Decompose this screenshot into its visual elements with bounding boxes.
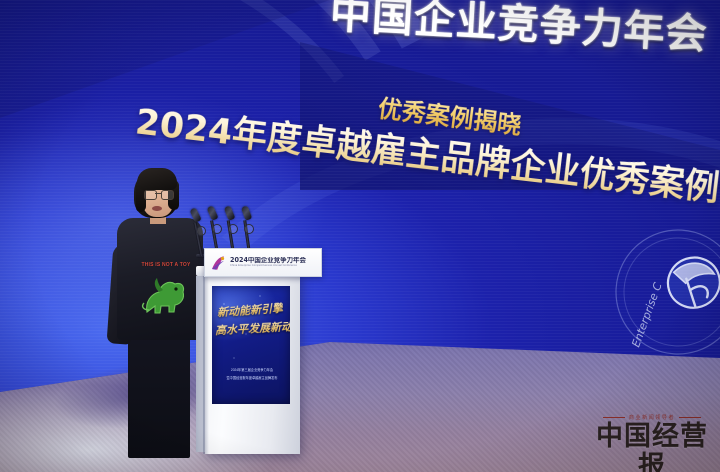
speaker-mouth (152, 206, 162, 211)
podium-sign-subtitle: China Enterprise Competitiveness Annual … (230, 265, 312, 268)
microphone-clip (212, 224, 222, 234)
microphone-clip (244, 224, 254, 234)
watermark-name-cn: 中国经营报 (592, 422, 712, 472)
podium-front-poster: 新动能新引擎 高水平发展新动力 2024年第三届企业竞争力年会 暨中国经营报年度… (212, 286, 290, 404)
podium-edge-highlight (203, 276, 209, 454)
swoosh-logo-icon (209, 254, 227, 272)
microphone-clip (196, 226, 206, 236)
speaker-hair-front (137, 168, 177, 190)
dinosaur-graphic-icon (141, 272, 189, 318)
speaker-chest-text: THIS IS NOT A TOY (139, 262, 193, 268)
poster-footer-line2: 暨中国经营报年度卓越雇主品牌发布 (219, 376, 285, 381)
eyeglasses-icon (143, 190, 173, 198)
poster-footer-line1: 2024年第三届企业竞争力年会 (219, 368, 285, 373)
podium-sign-text: 2024中国企业竞争力年会 China Enterprise Competiti… (230, 257, 312, 267)
glasses-lens-right (161, 190, 174, 200)
glasses-lens-left (144, 190, 157, 200)
conference-stage-photo: Enterprise C 中国企业竞争力年会 优秀案例揭晓 2024年度卓越雇主… (0, 0, 720, 472)
watermark-tagline: 商业新闻领导者 (629, 414, 675, 421)
watermark-rule: 商业新闻领导者 (592, 414, 712, 421)
microphone-clip (228, 224, 238, 234)
podium-name-sign: 2024中国企业竞争力年会 China Enterprise Competiti… (204, 248, 322, 277)
speaker-lower-body (128, 330, 190, 458)
podium-sign-title: 2024中国企业竞争力年会 (230, 257, 306, 264)
svg-text:Enterprise C: Enterprise C (629, 281, 665, 349)
publisher-watermark: 商业新闻领导者 中国经营报 CHINA BUSINESS JOURNAL (592, 414, 712, 472)
